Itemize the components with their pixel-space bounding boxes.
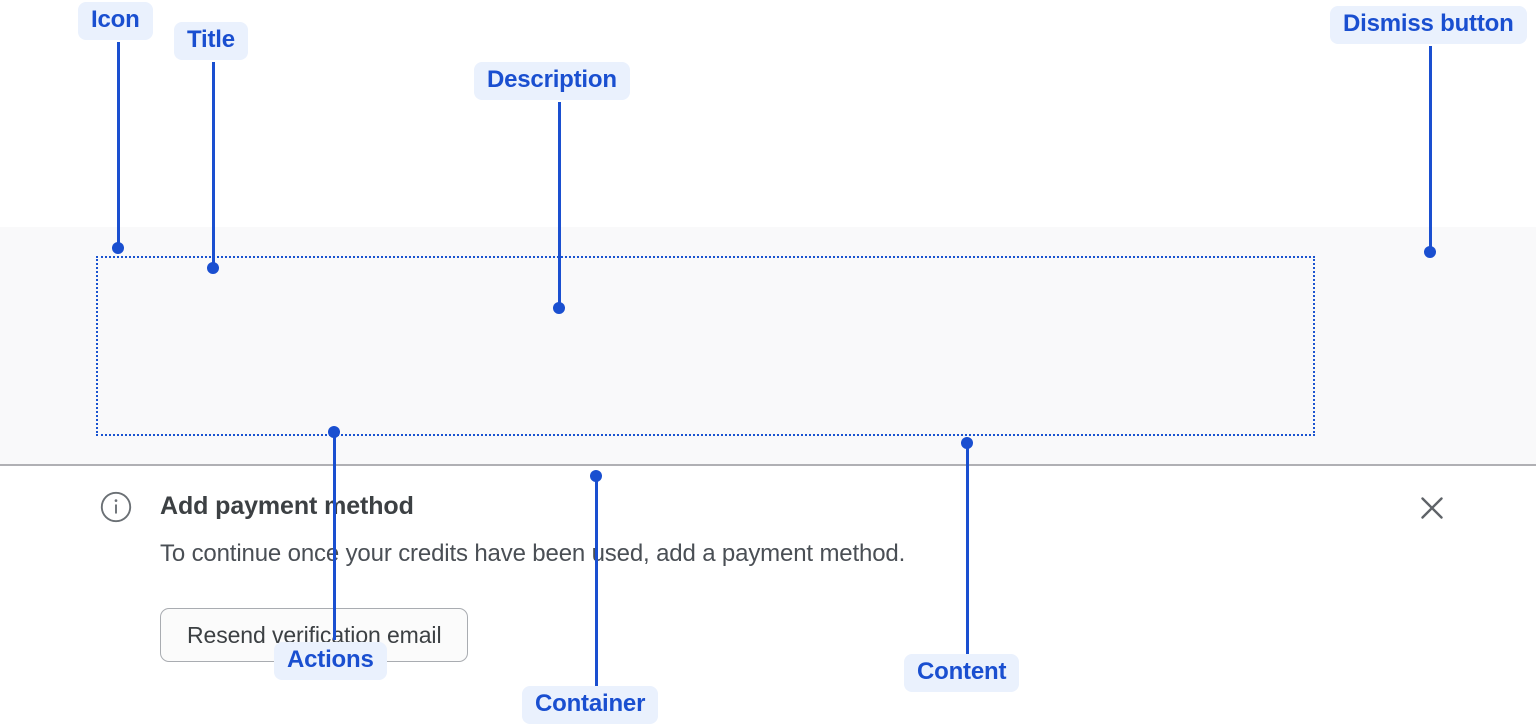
annotation-dot-container (590, 470, 602, 482)
annotation-label-container: Container (522, 686, 658, 724)
annotation-label-title: Title (174, 22, 248, 60)
annotation-leader-dismiss (1429, 46, 1432, 252)
annotation-label-dismiss: Dismiss button (1330, 6, 1527, 44)
annotation-label-description: Description (474, 62, 630, 100)
payment-method-banner: Add payment method To continue once your… (0, 227, 1536, 466)
annotation-leader-container (595, 476, 598, 686)
resend-verification-email-button[interactable]: Resend verification email (160, 608, 468, 662)
dismiss-button[interactable] (1416, 492, 1448, 524)
close-x-icon (1416, 492, 1448, 524)
banner-description: To continue once your credits have been … (160, 540, 905, 568)
annotation-label-icon: Icon (78, 2, 153, 40)
banner-title: Add payment method (160, 492, 414, 521)
annotation-leader-content (966, 443, 969, 654)
info-circle-icon (100, 491, 132, 523)
annotation-leader-icon (117, 42, 120, 248)
resend-verification-email-label: Resend verification email (187, 622, 441, 649)
annotation-label-content: Content (904, 654, 1019, 692)
